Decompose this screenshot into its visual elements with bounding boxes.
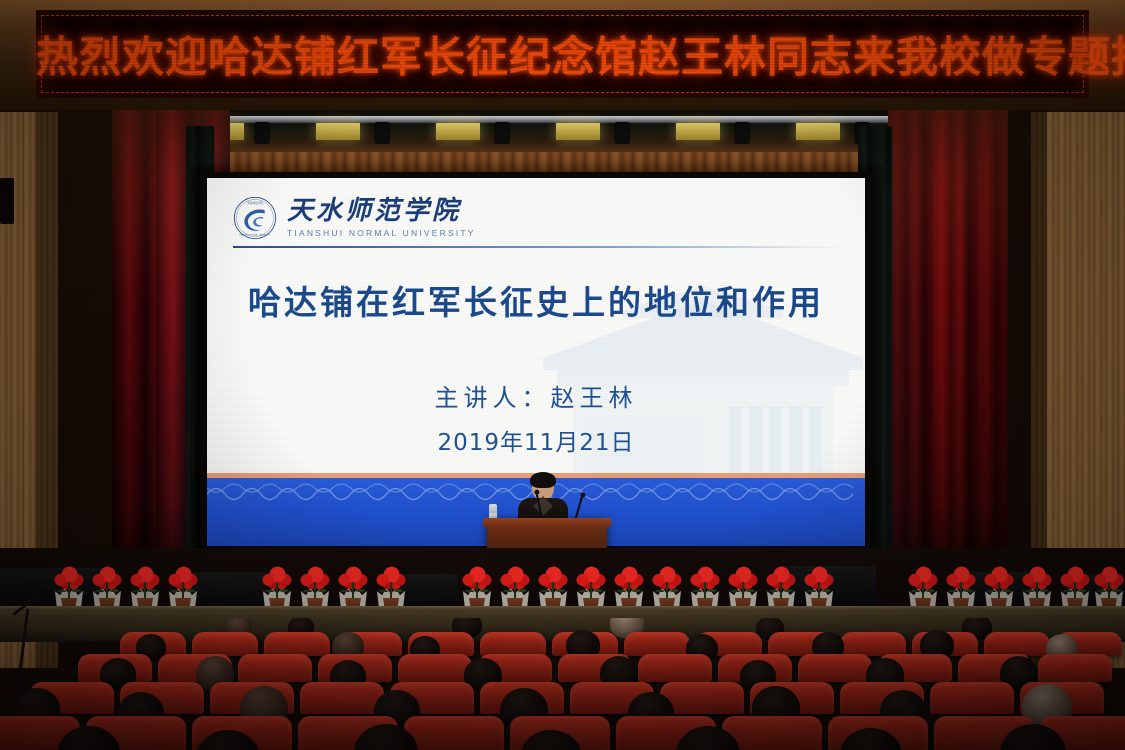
potted-flower <box>168 562 198 612</box>
potted-flower <box>376 562 406 612</box>
led-banner-frame: 热烈欢迎哈达铺红军长征纪念馆赵王林同志来我校做专题报告 <box>0 0 1125 112</box>
auditorium-seat <box>398 654 472 682</box>
potted-flower <box>538 562 568 612</box>
stage-light-fixture <box>494 122 510 144</box>
auditorium-seat <box>930 682 1014 714</box>
potted-flower <box>946 562 976 612</box>
potted-flower <box>576 562 606 612</box>
auditorium-seat <box>798 654 872 682</box>
auditorium-seat <box>984 632 1050 656</box>
potted-flower <box>1094 562 1124 612</box>
potted-flower <box>338 562 368 612</box>
potted-flower <box>262 562 292 612</box>
curtain-sheen <box>888 110 1008 610</box>
auditorium-seat <box>404 716 504 750</box>
potted-flower <box>54 562 84 612</box>
auditorium-seat <box>840 632 906 656</box>
stage-light-fixture <box>374 122 390 144</box>
stage-light-fixture <box>614 122 630 144</box>
led-banner-screen: 热烈欢迎哈达铺红军长征纪念馆赵王林同志来我校做专题报告 <box>36 10 1089 98</box>
podium-top-surface <box>483 518 611 527</box>
slide-title: 哈达铺在红军长征史上的地位和作用 <box>207 276 865 324</box>
slide-speaker-line: 主讲人：赵王林 <box>207 378 865 413</box>
audience-seating <box>0 618 1125 750</box>
potted-flower <box>908 562 938 612</box>
potted-flower <box>804 562 834 612</box>
stage-light <box>436 123 480 140</box>
valance-light-rail <box>178 116 960 123</box>
potted-flower <box>690 562 720 612</box>
stage-edge-highlight <box>0 606 1125 610</box>
auditorium-seat <box>638 654 712 682</box>
wall-speaker-box <box>0 178 14 224</box>
potted-flower <box>984 562 1014 612</box>
potted-flower <box>766 562 796 612</box>
university-emblem-icon: 天水师范学院 TIANSHUI NORMAL UNIVERSITY <box>233 196 277 240</box>
auditorium-seat <box>1038 654 1112 682</box>
potted-flower <box>500 562 530 612</box>
auditorium-seat <box>264 632 330 656</box>
university-name-cn: 天水师范学院 <box>287 198 476 224</box>
potted-flower <box>652 562 682 612</box>
stage-light <box>676 123 720 140</box>
auditorium-seat <box>238 654 312 682</box>
auditorium-seat <box>624 632 690 656</box>
stage-light <box>796 123 840 140</box>
potted-flower <box>1022 562 1052 612</box>
auditorium-seat <box>480 632 546 656</box>
auditorium-seat <box>300 682 384 714</box>
potted-flower <box>462 562 492 612</box>
potted-flower <box>614 562 644 612</box>
slide-date-line: 2019年11月21日 <box>207 423 865 457</box>
svg-text:TIANSHUI NORMAL UNIVERSITY: TIANSHUI NORMAL UNIVERSITY <box>239 234 271 237</box>
potted-flower <box>130 562 160 612</box>
stage-light-fixture <box>734 122 750 144</box>
stage-light <box>316 123 360 140</box>
stage-flower-row <box>0 556 1125 612</box>
svg-text:天水师范学院: 天水师范学院 <box>247 201 263 205</box>
stage-light <box>556 123 600 140</box>
university-name-en: TIANSHUI NORMAL UNIVERSITY <box>287 228 476 238</box>
potted-flower <box>1060 562 1090 612</box>
potted-flower <box>728 562 758 612</box>
slide-header-divider <box>233 246 839 248</box>
auditorium-scene: 热烈欢迎哈达铺红军长征纪念馆赵王林同志来我校做专题报告 <box>0 0 1125 750</box>
potted-flower <box>92 562 122 612</box>
university-logo: 天水师范学院 TIANSHUI NORMAL UNIVERSITY 天水师范学院… <box>233 196 476 240</box>
stage-light-fixture <box>254 122 270 144</box>
potted-flower <box>300 562 330 612</box>
red-stage-curtain-right <box>888 110 1008 610</box>
speaker-hair <box>530 472 556 488</box>
led-banner-text: 热烈欢迎哈达铺红军长征纪念馆赵王林同志来我校做专题报告 <box>36 24 1089 85</box>
auditorium-seat <box>192 632 258 656</box>
